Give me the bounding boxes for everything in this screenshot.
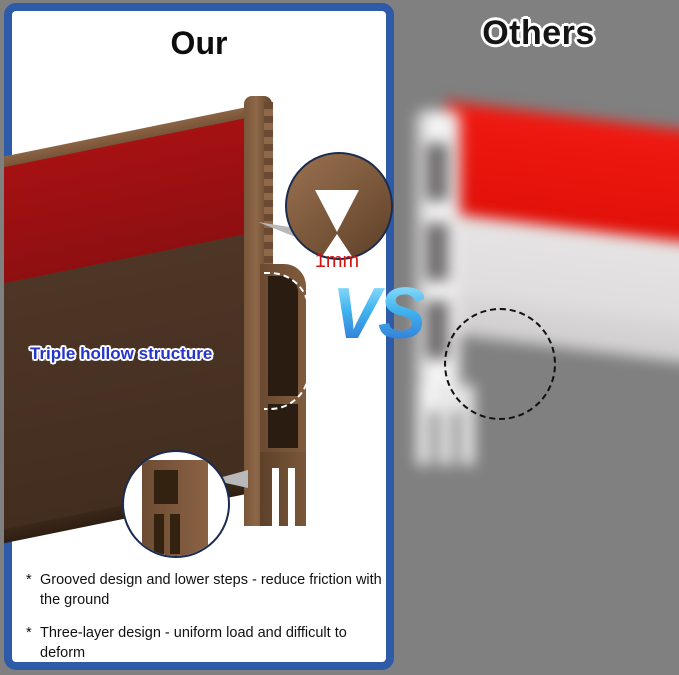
profile-foot-gap <box>272 468 279 526</box>
others-panel-title: Others <box>398 14 679 53</box>
competitor-prong <box>438 385 452 465</box>
competitor-hollow-chamber <box>426 223 448 281</box>
profile-hollow-chamber <box>268 404 298 448</box>
list-item-text: Three-layer design - uniform load and di… <box>40 624 384 663</box>
magnifier-hollow-chamber <box>154 470 178 504</box>
list-item-text: Grooved design and lower steps - reduce … <box>40 571 384 610</box>
magnifier-groove-notch <box>315 190 359 232</box>
magnifier-hollow-chamber <box>154 514 164 554</box>
competitor-hollow-highlight-ellipse <box>444 308 556 420</box>
our-panel-title: Our <box>12 25 386 62</box>
competitor-prong <box>416 385 430 465</box>
triple-hollow-structure-label: Triple hollow structure <box>30 344 212 364</box>
our-advantages-list: * Grooved design and lower steps - reduc… <box>26 571 384 675</box>
bullet-marker-icon: * <box>26 624 40 663</box>
comparison-infographic: Others ! Disadvantages * The weight is n… <box>0 0 679 675</box>
groove-detail-magnifier <box>285 152 393 260</box>
profile-serrated-edge <box>264 102 273 282</box>
list-item: * Grooved design and lower steps - reduc… <box>26 571 384 610</box>
measurement-label: 1mm <box>285 250 389 273</box>
profile-feet <box>260 452 306 526</box>
competitor-hollow-chamber <box>426 143 448 201</box>
hollow-structure-dashed-outline <box>264 272 310 410</box>
competitor-product-illustration <box>398 95 679 495</box>
cross-section-magnifier <box>122 450 230 558</box>
magnifier-hollow-chamber <box>170 514 180 554</box>
list-item: * Three-layer design - uniform load and … <box>26 624 384 663</box>
profile-foot-gap <box>288 468 295 526</box>
versus-badge: VS <box>332 278 424 350</box>
bullet-marker-icon: * <box>26 571 40 610</box>
